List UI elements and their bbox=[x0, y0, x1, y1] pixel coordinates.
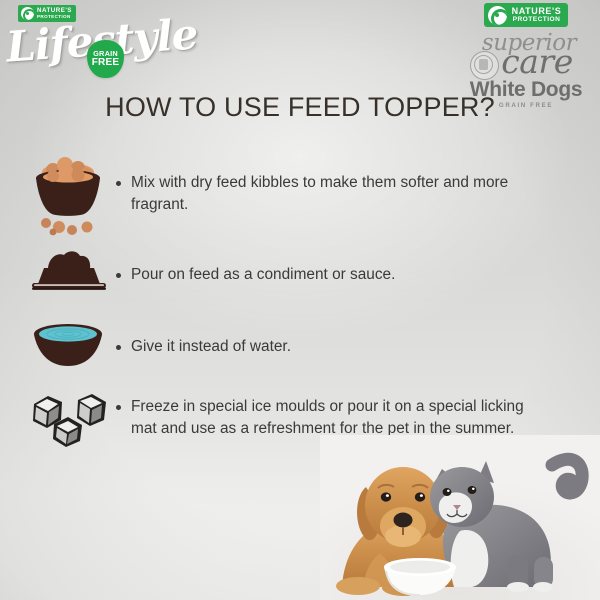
step-text: Mix with dry feed kibbles to make them s… bbox=[131, 172, 531, 216]
list-item: Pour on feed as a condiment or sauce. bbox=[20, 246, 560, 318]
dog-eye-right bbox=[415, 492, 425, 501]
dog-nose bbox=[394, 513, 413, 528]
dog-bowl-with-kibble-icon bbox=[22, 150, 114, 236]
list-item: Mix with dry feed kibbles to make them s… bbox=[20, 150, 560, 246]
feed-topper-infographic: NATURE'S PROTECTION Lifestyle GRAIN FREE… bbox=[0, 0, 600, 600]
brand-lockup-left: NATURE'S PROTECTION Lifestyle GRAIN FREE bbox=[4, 2, 144, 88]
step-text-block: Pour on feed as a condiment or sauce. bbox=[116, 246, 395, 286]
page-title: HOW TO USE FEED TOPPER? bbox=[0, 92, 600, 123]
natures-protection-badge-text: NATURE'S PROTECTION bbox=[512, 7, 562, 24]
ice-cubes-icon bbox=[22, 388, 114, 450]
step-icon-slot bbox=[20, 246, 116, 298]
dog-paw-left bbox=[336, 577, 380, 595]
list-item: Give it instead of water. bbox=[20, 318, 560, 388]
water-bowl-icon bbox=[22, 318, 114, 370]
dog-eye-left bbox=[381, 492, 391, 501]
bullet-dot-icon bbox=[116, 345, 121, 350]
step-text-block: Mix with dry feed kibbles to make them s… bbox=[116, 150, 531, 216]
step-text: Give it instead of water. bbox=[131, 336, 291, 358]
bullet-dot-icon bbox=[116, 181, 121, 186]
step-text: Pour on feed as a condiment or sauce. bbox=[131, 264, 395, 286]
cat-eye-left bbox=[443, 488, 452, 496]
nature-swirl-icon bbox=[488, 6, 507, 25]
cat-eye-right bbox=[468, 486, 477, 494]
badge-line-2: PROTECTION bbox=[512, 17, 562, 24]
quality-seal-icon bbox=[470, 51, 499, 80]
food-tray-with-sauce-icon bbox=[22, 246, 114, 298]
dog-and-cat-illustration bbox=[320, 435, 600, 600]
grain-free-line-2: FREE bbox=[92, 58, 119, 69]
pets-photo bbox=[320, 435, 600, 600]
nature-swirl-icon bbox=[21, 7, 34, 20]
brand-lockup-right: NATURE'S PROTECTION superior care White … bbox=[458, 3, 594, 97]
steps-list: Mix with dry feed kibbles to make them s… bbox=[20, 150, 560, 478]
step-text: Freeze in special ice moulds or pour it … bbox=[131, 396, 531, 440]
grain-free-badge: GRAIN FREE bbox=[87, 40, 124, 78]
natures-protection-badge-right: NATURE'S PROTECTION bbox=[484, 3, 569, 27]
superior-care-wordmark: superior care bbox=[458, 32, 594, 78]
step-text-block: Give it instead of water. bbox=[116, 318, 291, 358]
step-icon-slot bbox=[20, 150, 116, 236]
badge-line-1: NATURE'S bbox=[512, 7, 562, 16]
step-icon-slot bbox=[20, 318, 116, 370]
step-icon-slot bbox=[20, 388, 116, 450]
step-text-block: Freeze in special ice moulds or pour it … bbox=[116, 388, 531, 440]
bullet-dot-icon bbox=[116, 405, 121, 410]
badge-line-1: NATURE'S bbox=[37, 8, 72, 14]
bullet-dot-icon bbox=[116, 273, 121, 278]
